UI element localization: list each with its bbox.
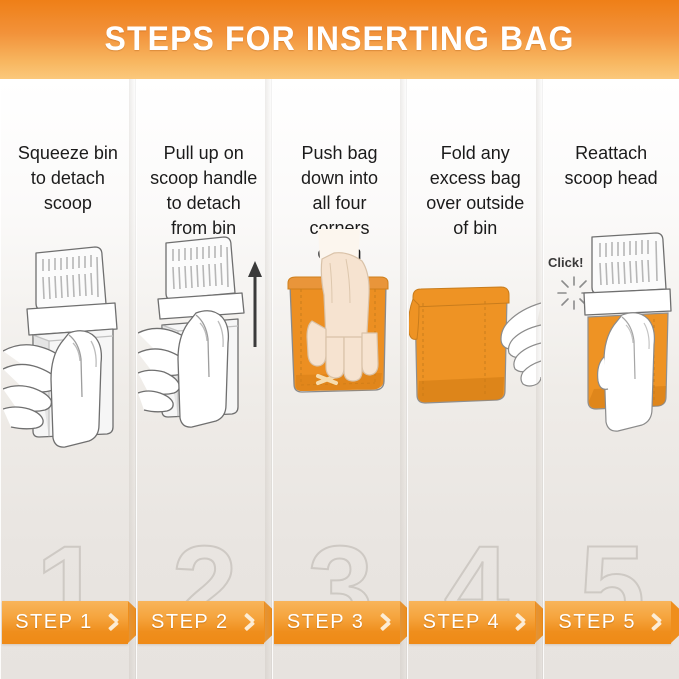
caption-line: scoop head [547, 166, 675, 191]
caption-line: to detach [4, 166, 132, 191]
chevron-right-icon [108, 612, 119, 633]
step-banner-label-4: STEP 4 [409, 601, 513, 644]
svg-text:Click!: Click! [548, 255, 583, 270]
chevron-right-icon [380, 612, 391, 633]
caption-line: down into [276, 166, 404, 191]
step-banner-1[interactable]: STEP 1 [2, 601, 128, 644]
caption-line: Fold any [411, 141, 539, 166]
caption-line: scoop [4, 191, 132, 216]
banner-arrow-tip [671, 601, 679, 643]
step-column-1[interactable]: Squeeze bin to detach scoop [0, 79, 136, 679]
instruction-infographic: STEPS FOR INSERTING BAG Squeeze bin to d… [0, 0, 679, 679]
chevron-right-icon [244, 612, 255, 633]
header-banner: STEPS FOR INSERTING BAG [0, 0, 679, 79]
click-annotation: Click! [548, 255, 590, 309]
caption-line: Push bag [276, 141, 404, 166]
caption-line: all four [276, 191, 404, 216]
step-caption-4: Fold any excess bag over outside of bin [411, 141, 539, 241]
step-column-3[interactable]: Push bag down into all four corners of b… [272, 79, 408, 679]
step-banner-5[interactable]: STEP 5 [545, 601, 671, 644]
step-illustration-1 [0, 229, 136, 479]
chevron-right-icon [651, 612, 662, 633]
step-illustration-3 [272, 229, 408, 479]
step-illustration-2 [136, 229, 272, 479]
step-banner-label-3: STEP 3 [274, 601, 378, 644]
step-column-4[interactable]: Fold any excess bag over outside of bin [407, 79, 543, 679]
caption-line: to detach [140, 191, 268, 216]
up-arrow-icon [248, 261, 262, 347]
caption-line: Reattach [547, 141, 675, 166]
step-banner-label-5: STEP 5 [545, 601, 649, 644]
step-banner-label-1: STEP 1 [2, 601, 106, 644]
step-column-2[interactable]: Pull up on scoop handle to detach from b… [136, 79, 272, 679]
page-title: STEPS FOR INSERTING BAG [20, 0, 658, 79]
caption-line: Pull up on [140, 141, 268, 166]
caption-line: excess bag [411, 166, 539, 191]
step-illustration-5: Click! [543, 229, 679, 479]
steps-board: Squeeze bin to detach scoop [0, 79, 679, 679]
step-banner-label-2: STEP 2 [138, 601, 242, 644]
step-caption-5: Reattach scoop head [547, 141, 675, 191]
step-banner-3[interactable]: STEP 3 [274, 601, 400, 644]
step-illustration-4 [407, 229, 543, 479]
chevron-right-icon [515, 612, 526, 633]
step-column-5[interactable]: Reattach scoop head Click! [543, 79, 679, 679]
caption-line: scoop handle [140, 166, 268, 191]
step-caption-1: Squeeze bin to detach scoop [4, 141, 132, 216]
steps-columns: Squeeze bin to detach scoop [0, 79, 679, 679]
caption-line: over outside [411, 191, 539, 216]
step-caption-2: Pull up on scoop handle to detach from b… [140, 141, 268, 241]
caption-line: Squeeze bin [4, 141, 132, 166]
step-banner-2[interactable]: STEP 2 [138, 601, 264, 644]
step-banner-4[interactable]: STEP 4 [409, 601, 535, 644]
